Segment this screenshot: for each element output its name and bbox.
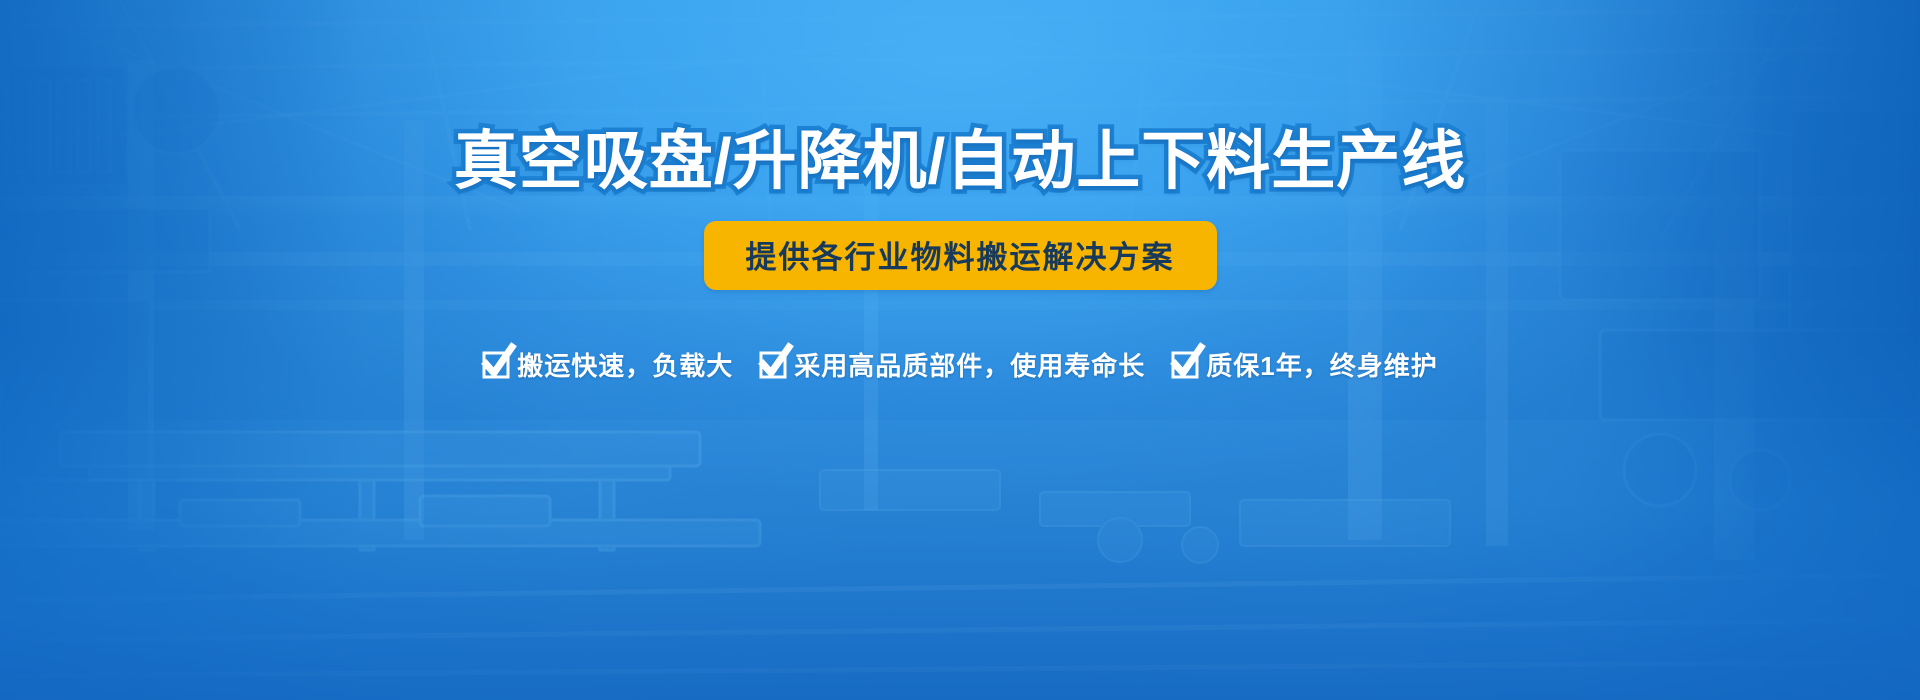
feature-label: 采用高品质部件，使用寿命长 [794, 346, 1145, 383]
banner-headline: 真空吸盘/升降机/自动上下料生产线 [454, 128, 1467, 195]
feature-label: 质保1年，终身维护 [1206, 346, 1437, 383]
checkbox-check-icon [482, 352, 508, 378]
promo-banner: 真空吸盘/升降机/自动上下料生产线 提供各行业物料搬运解决方案 搬运快速，负载大 [0, 0, 1920, 700]
checkbox-check-icon [759, 352, 785, 378]
banner-content: 真空吸盘/升降机/自动上下料生产线 提供各行业物料搬运解决方案 搬运快速，负载大 [0, 0, 1920, 700]
checkbox-check-icon [1171, 352, 1197, 378]
feature-label: 搬运快速，负载大 [517, 346, 733, 383]
feature-item: 采用高品质部件，使用寿命长 [759, 346, 1145, 383]
banner-subtitle-pill: 提供各行业物料搬运解决方案 [704, 221, 1217, 290]
feature-item: 搬运快速，负载大 [482, 346, 733, 383]
feature-list: 搬运快速，负载大 采用高品质部件，使用寿命长 [482, 346, 1438, 383]
feature-item: 质保1年，终身维护 [1171, 346, 1437, 383]
